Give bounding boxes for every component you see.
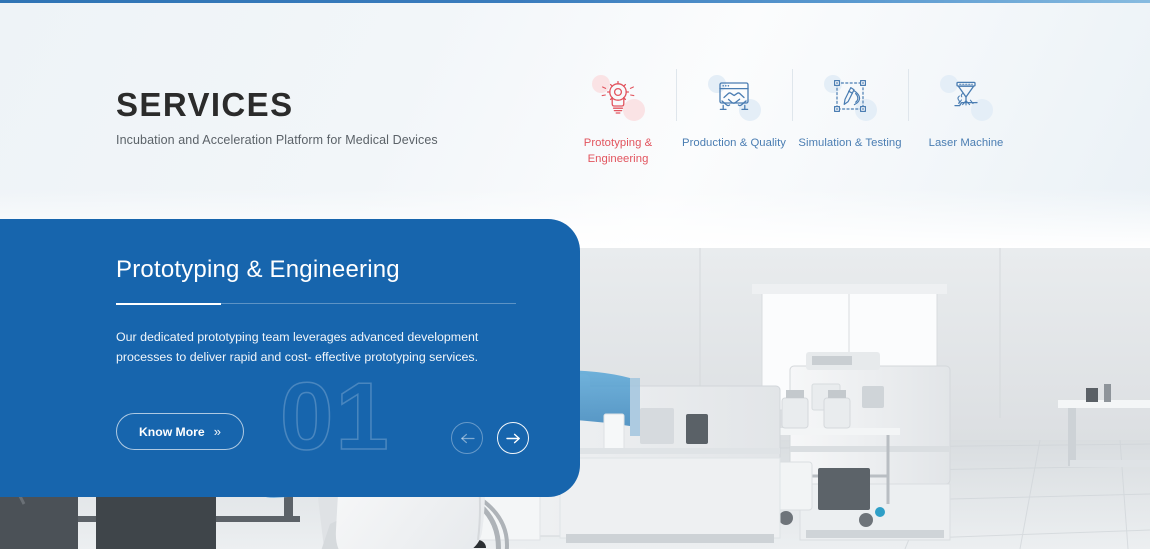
lightbulb-gear-icon (593, 71, 643, 121)
browser-handshake-icon (709, 71, 759, 121)
service-nav-label: Prototyping & Engineering (560, 135, 676, 168)
service-nav: Prototyping & Engineering (560, 63, 1024, 168)
page-title: SERVICES (116, 88, 438, 121)
slide-description: Our dedicated prototyping team leverages… (116, 327, 536, 367)
slide-number-watermark: 01 (280, 369, 391, 465)
page-tagline: Incubation and Acceleration Platform for… (116, 133, 438, 147)
service-nav-label: Production & Quality (682, 135, 786, 151)
service-nav-label: Laser Machine (929, 135, 1004, 151)
next-slide-button[interactable] (497, 422, 529, 454)
top-accent-bar (0, 0, 1150, 3)
service-nav-item-production-quality[interactable]: Production & Quality (676, 63, 792, 151)
design-pencil-gear-icon (825, 71, 875, 121)
slide-heading: Prototyping & Engineering (116, 257, 580, 283)
service-nav-item-prototyping-engineering[interactable]: Prototyping & Engineering (560, 63, 676, 168)
heading-divider (116, 303, 516, 305)
header-band: SERVICES Incubation and Acceleration Pla… (0, 3, 1150, 248)
service-nav-item-laser-machine[interactable]: Laser Machine (908, 63, 1024, 151)
prev-slide-button[interactable] (451, 422, 483, 454)
slider-controls (451, 422, 529, 454)
brand-block: SERVICES Incubation and Acceleration Pla… (116, 88, 438, 147)
know-more-label: Know More (139, 425, 205, 439)
service-nav-label: Simulation & Testing (798, 135, 901, 151)
know-more-button[interactable]: Know More » (116, 413, 244, 450)
slide-panel: Prototyping & Engineering Our dedicated … (0, 219, 580, 497)
service-nav-item-simulation-testing[interactable]: Simulation & Testing (792, 63, 908, 151)
divider-lit-line (116, 303, 221, 305)
double-chevron-right-icon: » (214, 424, 221, 439)
laser-cutter-icon (941, 71, 991, 121)
services-page: SERVICES Incubation and Acceleration Pla… (0, 0, 1150, 549)
